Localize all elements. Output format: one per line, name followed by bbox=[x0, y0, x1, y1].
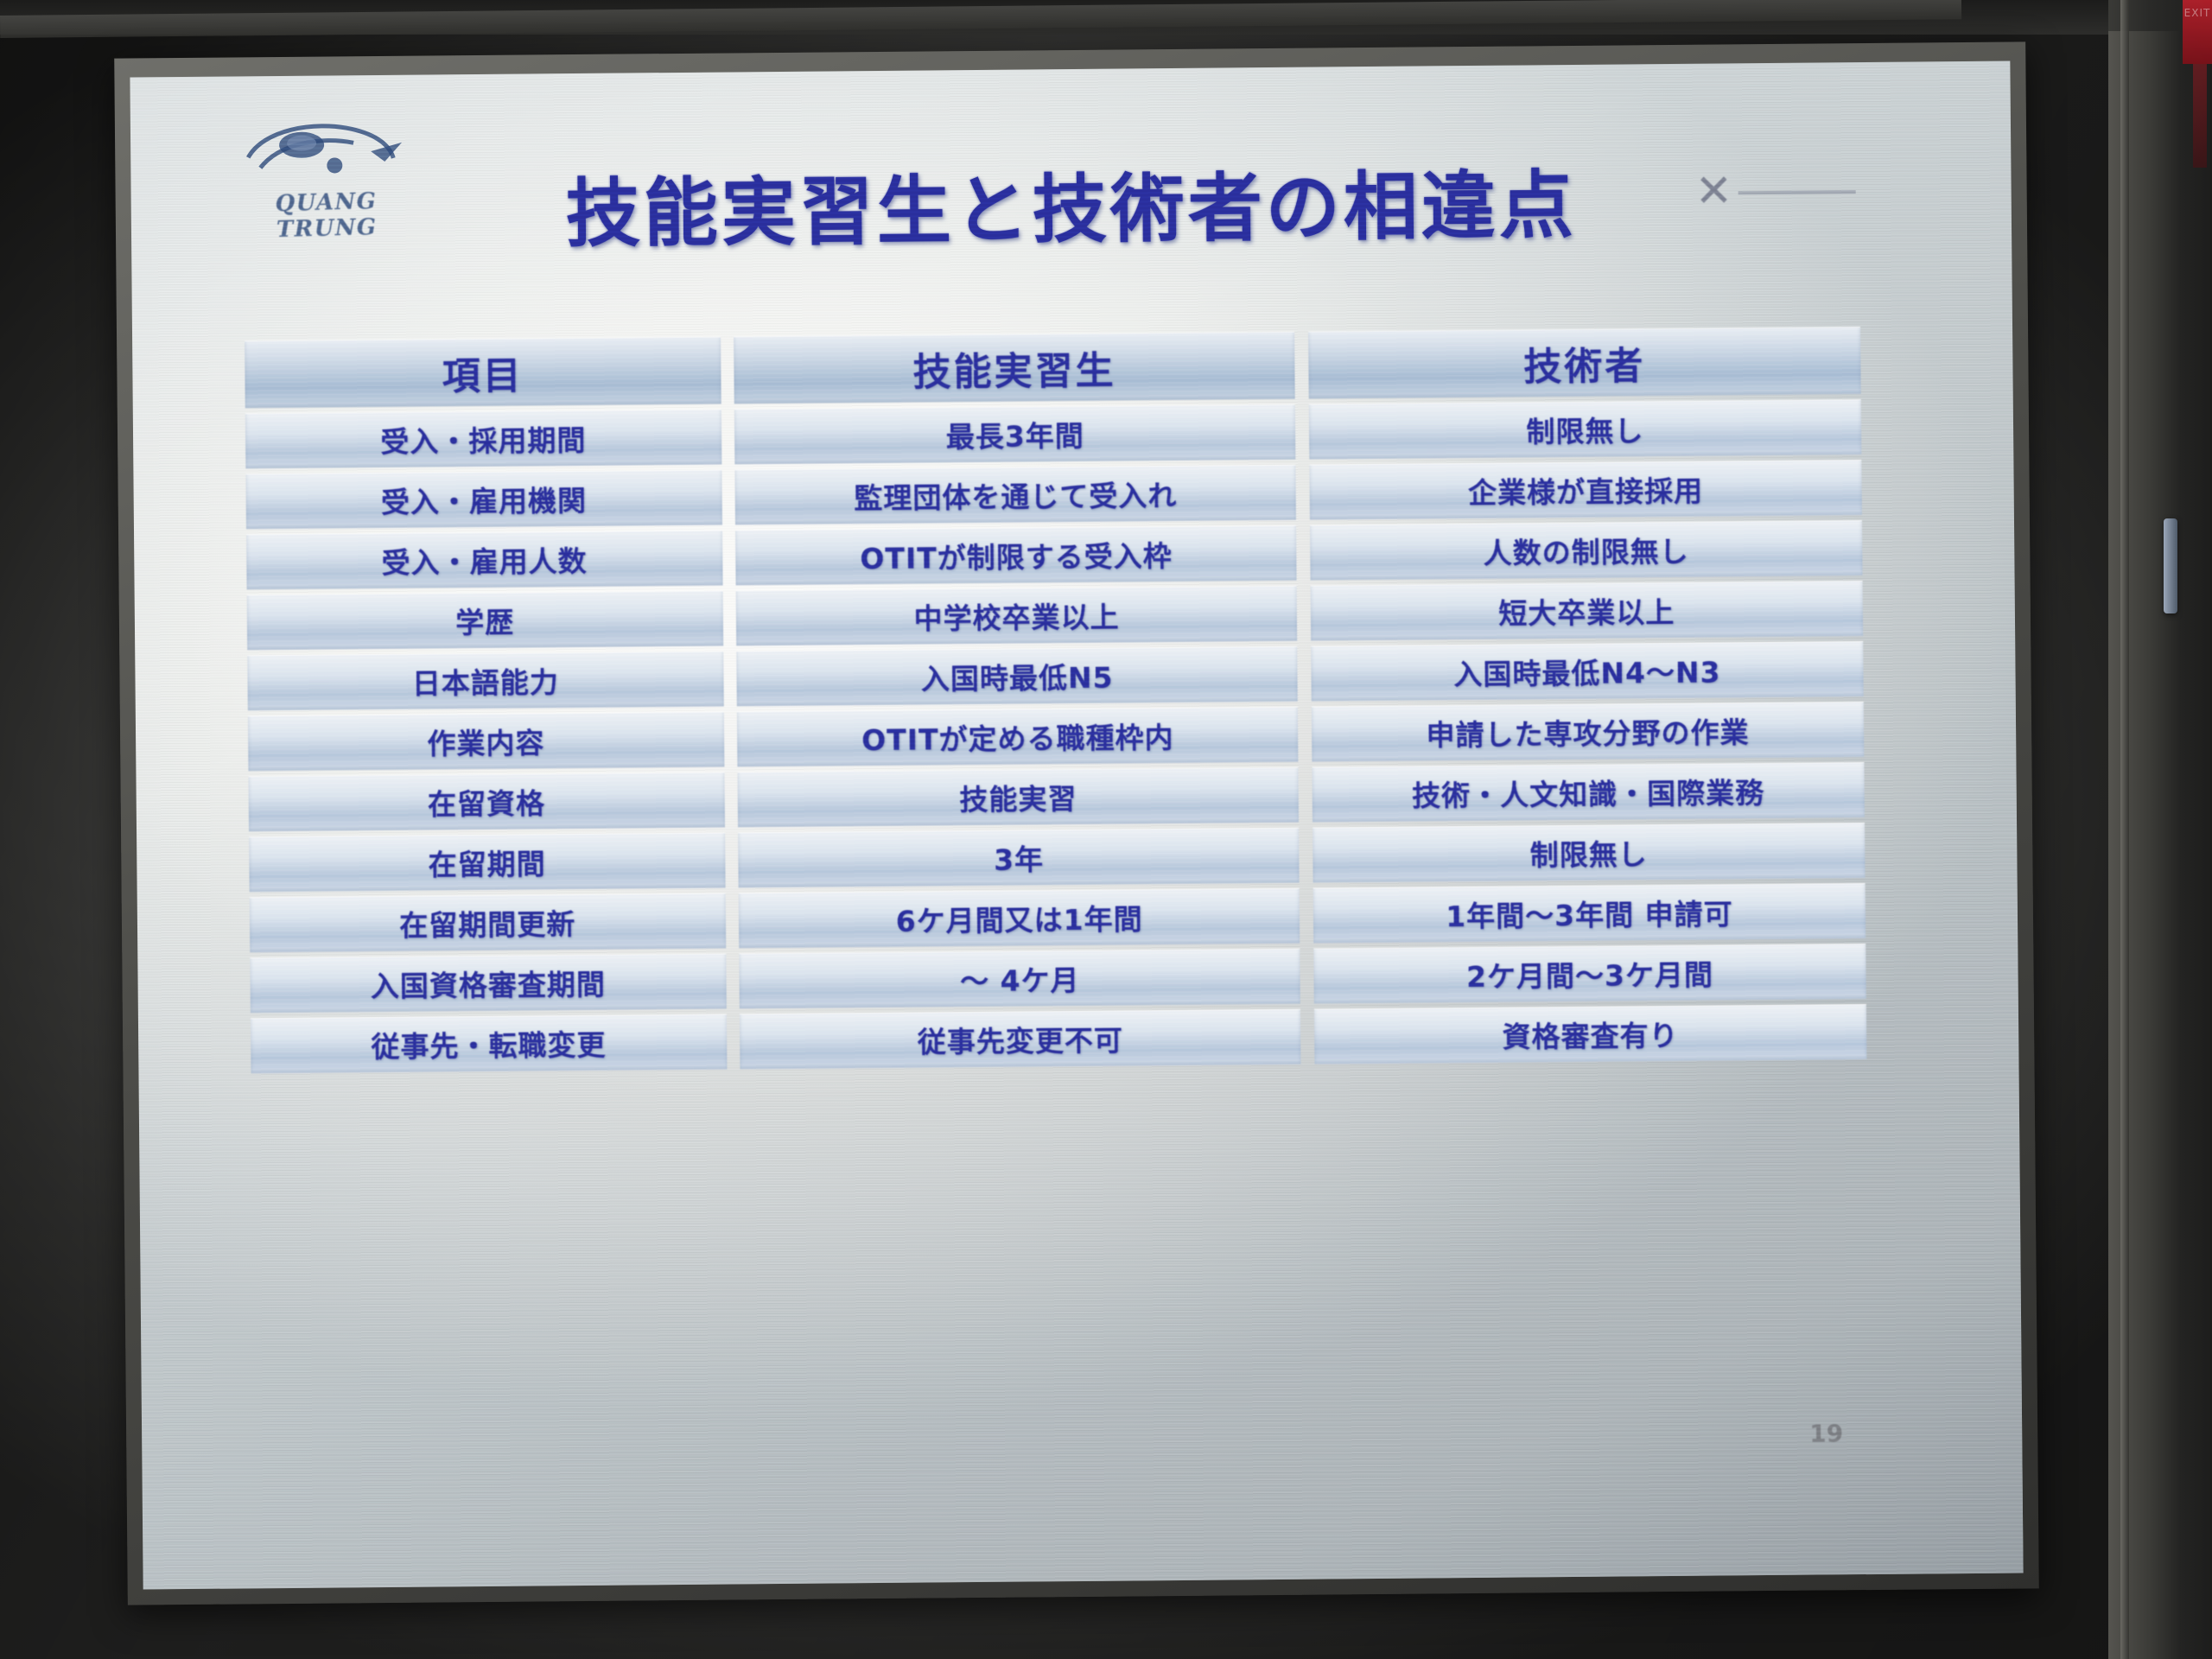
column-spacer bbox=[1299, 828, 1313, 883]
door-handle[interactable] bbox=[2164, 518, 2177, 613]
column-spacer bbox=[1296, 465, 1310, 520]
table-header-row: 項目 技能実習生 技術者 bbox=[245, 327, 1861, 408]
screenshot-root: EXIT bbox=[0, 0, 2212, 1659]
close-icon[interactable]: ✕ bbox=[1694, 174, 1734, 213]
cell-trainee: 3年 bbox=[738, 828, 1300, 888]
table-header-item: 項目 bbox=[245, 337, 721, 409]
cell-item: 在留期間 bbox=[249, 833, 725, 893]
column-spacer bbox=[721, 336, 734, 404]
column-spacer bbox=[721, 409, 734, 464]
cell-engineer: 1年間〜3年間 申請可 bbox=[1313, 883, 1866, 944]
cell-trainee: 6ケ月間又は1年間 bbox=[739, 888, 1300, 949]
cell-item: 受入・雇用人数 bbox=[246, 531, 722, 590]
cell-item: 在留期間更新 bbox=[250, 893, 726, 953]
cell-engineer: 技術・人文知識・国際業務 bbox=[1312, 762, 1865, 823]
cell-engineer: 制限無し bbox=[1309, 399, 1862, 460]
column-spacer bbox=[723, 651, 737, 706]
right-wall-panel bbox=[2108, 0, 2212, 1659]
table-row: 在留期間 3年 制限無し bbox=[249, 823, 1865, 892]
exit-sign: EXIT bbox=[2183, 0, 2212, 64]
cell-trainee: 中学校卒業以上 bbox=[736, 586, 1298, 646]
cell-item: 学歴 bbox=[247, 591, 723, 651]
column-spacer bbox=[726, 1014, 740, 1069]
door-edge bbox=[2120, 0, 2129, 1659]
exit-sign-label: EXIT bbox=[2183, 0, 2212, 19]
table-row: 日本語能力 入国時最低N5 入国時最低N4〜N3 bbox=[247, 641, 1863, 710]
cell-trainee: 〜 4ケ月 bbox=[739, 949, 1300, 1009]
cell-item: 受入・雇用機関 bbox=[245, 470, 721, 530]
cell-trainee: 最長3年間 bbox=[734, 404, 1296, 465]
table-row: 在留期間更新 6ケ月間又は1年間 1年間〜3年間 申請可 bbox=[250, 883, 1866, 952]
table-row: 受入・雇用人数 OTITが制限する受入枠 人数の制限無し bbox=[246, 520, 1862, 589]
column-spacer bbox=[726, 953, 740, 1008]
column-spacer bbox=[1295, 404, 1309, 460]
column-spacer bbox=[723, 711, 737, 766]
table-row: 在留資格 技能実習 技術・人文知識・国際業務 bbox=[248, 762, 1864, 831]
cell-trainee: 監理団体を通じて受入れ bbox=[735, 465, 1297, 525]
column-spacer bbox=[725, 893, 739, 948]
column-spacer bbox=[1297, 646, 1311, 702]
cell-item: 従事先・転職変更 bbox=[251, 1014, 727, 1074]
cell-engineer: 申請した専攻分野の作業 bbox=[1312, 702, 1865, 762]
projection-screen: QUANG TRUNG 技能実習生と技術者の相違点 ✕ 項目 bbox=[114, 41, 2039, 1605]
table-row: 従事先・転職変更 従事先変更不可 資格審査有り bbox=[251, 1004, 1866, 1073]
presentation-slide: QUANG TRUNG 技能実習生と技術者の相違点 ✕ 項目 bbox=[130, 61, 2023, 1590]
cell-item: 在留資格 bbox=[248, 772, 724, 832]
table-row: 受入・採用期間 最長3年間 制限無し bbox=[245, 399, 1861, 468]
cell-engineer: 短大卒業以上 bbox=[1310, 581, 1863, 641]
table-header-engineer: 技術者 bbox=[1308, 327, 1861, 399]
table-row: 作業内容 OTITが定める職種枠内 申請した専攻分野の作業 bbox=[248, 702, 1864, 771]
cell-trainee: 従事先変更不可 bbox=[740, 1009, 1301, 1070]
table-row: 入国資格審査期間 〜 4ケ月 2ケ月間〜3ケ月間 bbox=[250, 944, 1866, 1013]
cell-engineer: 制限無し bbox=[1313, 823, 1866, 883]
cell-item: 作業内容 bbox=[248, 712, 724, 772]
cell-engineer: 企業様が直接採用 bbox=[1309, 460, 1862, 520]
door-frame bbox=[2108, 31, 2181, 1659]
cell-trainee: 技能実習 bbox=[738, 767, 1300, 828]
table-row: 受入・雇用機関 監理団体を通じて受入れ 企業様が直接採用 bbox=[245, 460, 1861, 529]
column-spacer bbox=[1297, 586, 1311, 641]
page-number: 19 bbox=[1809, 1419, 1843, 1447]
column-spacer bbox=[721, 469, 735, 524]
column-spacer bbox=[724, 772, 738, 827]
cell-engineer: 人数の制限無し bbox=[1310, 520, 1863, 581]
cell-trainee: 入国時最低N5 bbox=[736, 646, 1298, 707]
cell-trainee: OTITが定める職種枠内 bbox=[737, 707, 1299, 767]
cell-item: 受入・採用期間 bbox=[245, 410, 721, 469]
cell-trainee: OTITが制限する受入枠 bbox=[735, 525, 1297, 586]
column-spacer bbox=[725, 832, 739, 887]
comparison-table: 項目 技能実習生 技術者 bbox=[245, 321, 1866, 1078]
column-spacer bbox=[1299, 767, 1313, 823]
table-row: 学歴 中学校卒業以上 短大卒業以上 bbox=[247, 581, 1863, 650]
cell-item: 日本語能力 bbox=[247, 652, 723, 711]
column-spacer bbox=[1294, 332, 1308, 399]
column-spacer bbox=[1296, 525, 1310, 581]
column-spacer bbox=[1300, 1009, 1314, 1065]
column-spacer bbox=[1300, 888, 1313, 944]
cell-engineer: 2ケ月間〜3ケ月間 bbox=[1313, 944, 1866, 1004]
cell-engineer: 入国時最低N4〜N3 bbox=[1311, 641, 1864, 702]
column-spacer bbox=[722, 530, 736, 585]
column-spacer bbox=[1300, 949, 1313, 1004]
cell-engineer: 資格審査有り bbox=[1314, 1004, 1867, 1065]
column-spacer bbox=[1298, 707, 1312, 762]
red-wall-strip bbox=[2193, 64, 2207, 168]
table-header-trainee: 技能実習生 bbox=[734, 332, 1295, 404]
cell-item: 入国資格審査期間 bbox=[250, 954, 726, 1014]
column-spacer bbox=[722, 590, 736, 645]
